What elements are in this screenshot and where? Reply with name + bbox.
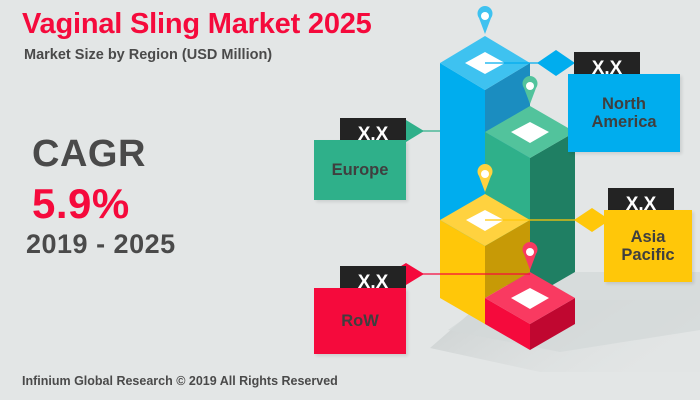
infographic-canvas: Vaginal Sling Market 2025 Market Size by… <box>0 0 700 400</box>
region-label-asia-pacific: Asia Pacific <box>604 210 692 282</box>
region-label-row: RoW <box>314 288 406 354</box>
bar-europe-right-face <box>530 132 575 298</box>
region-label-europe: Europe <box>314 140 406 200</box>
region-label-north-america: North America <box>568 74 680 152</box>
pin-north-america <box>478 6 493 34</box>
connector-diamond-north-america-icon <box>537 50 575 76</box>
